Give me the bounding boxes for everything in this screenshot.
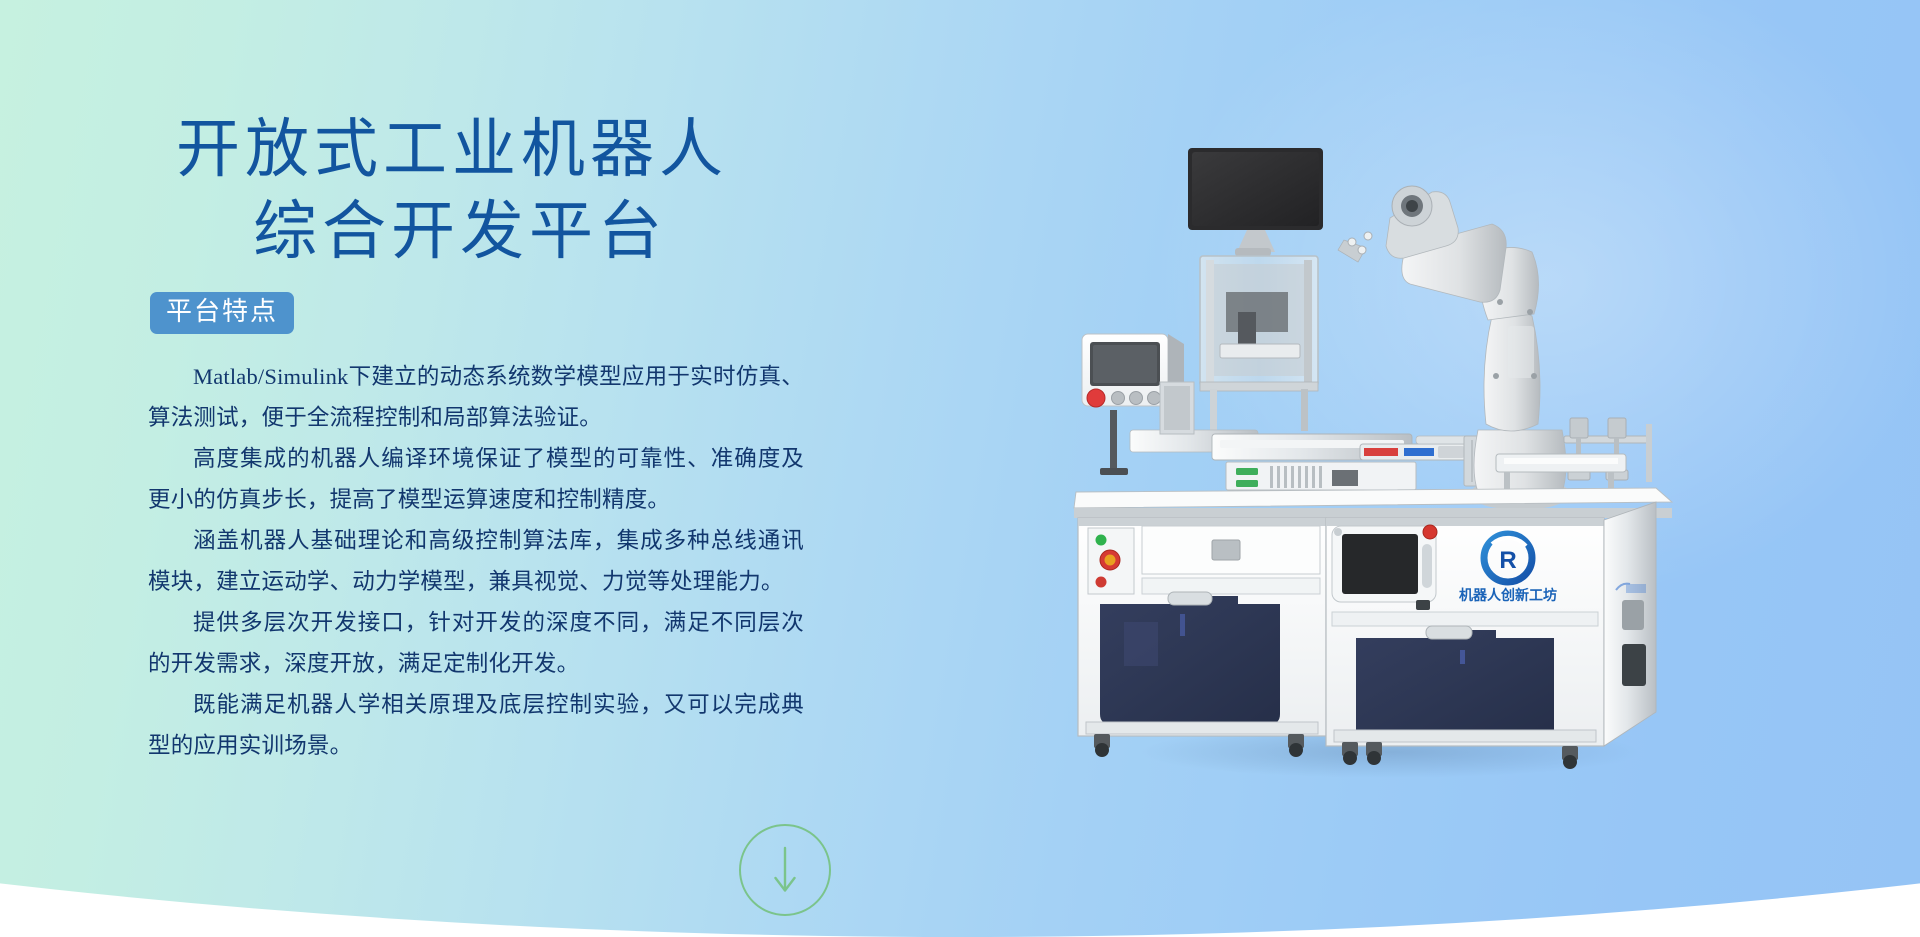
control-cabinet-right: R 机器人创新工坊 (1326, 502, 1656, 769)
badge-row: 平台特点 (148, 292, 808, 334)
page-title: 开放式工业机器人 综合开发平台 (148, 112, 808, 270)
feature-paragraph-list: Matlab/Simulink下建立的动态系统数学模型应用于实时仿真、算法测试，… (148, 356, 804, 766)
feature-paragraph: 提供多层次开发接口，针对开发的深度不同，满足不同层次的开发需求，深度开放，满足定… (148, 602, 804, 684)
workstation-illustration: R 机器人创新工坊 (1060, 130, 1700, 790)
feature-paragraph: 既能满足机器人学相关原理及底层控制实验，又可以完成典型的应用实训场景。 (148, 684, 804, 766)
platform-features-badge: 平台特点 (150, 292, 294, 334)
enclosed-machining-cell (1200, 256, 1318, 431)
feature-paragraph: 高度集成的机器人编译环境保证了模型的可靠性、准确度及更小的仿真步长，提高了模型运… (148, 438, 804, 520)
brand-logo-text: 机器人创新工坊 (1459, 587, 1557, 603)
feature-paragraph: Matlab/Simulink下建立的动态系统数学模型应用于实时仿真、算法测试，… (148, 356, 804, 438)
feature-paragraph: 涵盖机器人基础理论和高级控制算法库，集成多种总线通讯模块，建立运动学、动力学模型… (148, 520, 804, 602)
touch-panel-hmi[interactable] (1332, 525, 1437, 610)
scroll-down-button[interactable] (739, 824, 831, 916)
product-photo: R 机器人创新工坊 (1060, 130, 1700, 790)
hero-banner: 开放式工业机器人 综合开发平台 平台特点 Matlab/Simulink下建立的… (0, 0, 1920, 937)
display-monitor (1188, 148, 1323, 256)
svg-text:R: R (1499, 547, 1516, 574)
page-title-line-1: 开放式工业机器人 (148, 112, 808, 188)
worktable-top (1074, 488, 1672, 518)
status-light-green (1096, 535, 1107, 546)
arrow-down-icon (772, 845, 798, 895)
copy-column: 开放式工业机器人 综合开发平台 平台特点 Matlab/Simulink下建立的… (148, 112, 808, 766)
emergency-stop-button (1087, 389, 1105, 407)
control-cabinet-left (1078, 518, 1326, 757)
linear-conveyor-module (1130, 382, 1506, 490)
status-light-red (1096, 577, 1107, 588)
page-title-line-2: 综合开发平台 (148, 194, 808, 270)
